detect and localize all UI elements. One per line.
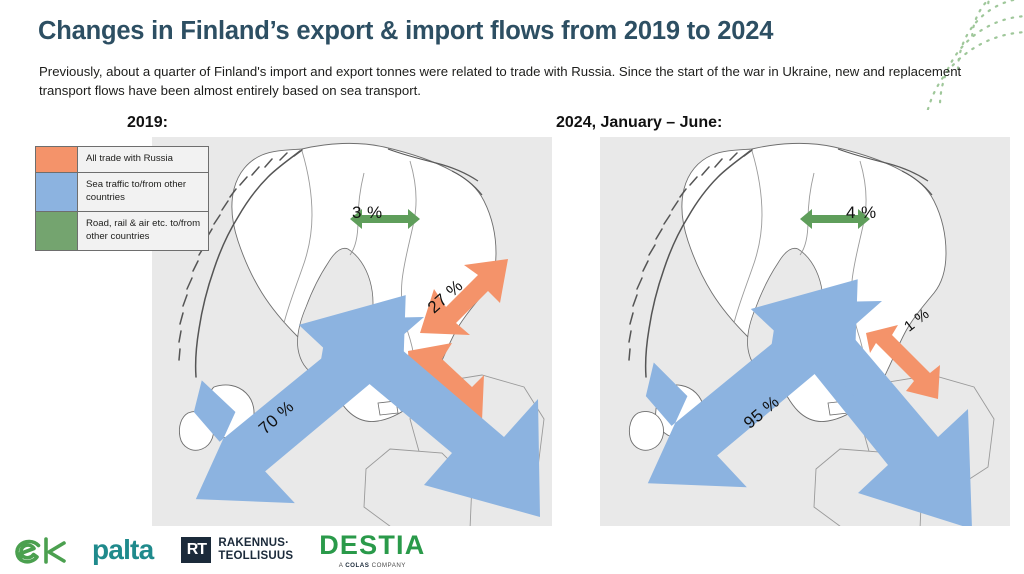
panel-title-2024: 2024, January – June: [556, 114, 722, 132]
logo-destia: DESTIA A COLAS COMPANY [319, 532, 425, 569]
legend-swatch-russia [36, 147, 78, 172]
map-2024 [600, 137, 1010, 537]
page-subtitle: Previously, about a quarter of Finland's… [39, 62, 994, 100]
map-2019 [152, 137, 552, 537]
logo-ek [14, 534, 68, 566]
destia-logo-subtext: A COLAS COMPANY [319, 562, 425, 569]
legend-item-sea: Sea traffic to/from other countries [36, 173, 208, 212]
panel-title-2019: 2019: [127, 114, 168, 132]
ek-logo-icon [14, 534, 68, 566]
rt-logo-mark: RT [181, 537, 211, 563]
map-svg-2019 [152, 137, 552, 537]
rt-logo-text: RAKENNUS· TEOLLISUUS [218, 537, 293, 563]
logo-palta: palta [92, 536, 153, 564]
legend-swatch-sea [36, 173, 78, 211]
destia-logo-text: DESTIA [319, 532, 425, 559]
logo-rt: RT RAKENNUS· TEOLLISUUS [181, 537, 293, 563]
arrow-label-road-rail-air-2019: 3 % [352, 203, 383, 223]
page-title: Changes in Finland’s export & import flo… [38, 17, 773, 46]
legend-label-road-rail-air: Road, rail & air etc. to/from other coun… [78, 212, 208, 250]
legend: All trade with Russia Sea traffic to/fro… [35, 146, 209, 251]
legend-swatch-road-rail-air [36, 212, 78, 250]
legend-item-road-rail-air: Road, rail & air etc. to/from other coun… [36, 212, 208, 250]
rt-logo-line2: TEOLLISUUS [218, 550, 293, 563]
palta-logo-text: palta [92, 536, 153, 564]
legend-label-russia: All trade with Russia [78, 147, 208, 172]
rt-logo-line1: RAKENNUS· [218, 537, 293, 550]
logo-bar: palta RT RAKENNUS· TEOLLISUUS DESTIA A C… [0, 526, 1024, 574]
map-svg-2024 [600, 137, 1010, 537]
legend-label-sea: Sea traffic to/from other countries [78, 173, 208, 211]
legend-item-russia: All trade with Russia [36, 147, 208, 173]
arrow-label-road-rail-air-2024: 4 % [846, 203, 877, 223]
